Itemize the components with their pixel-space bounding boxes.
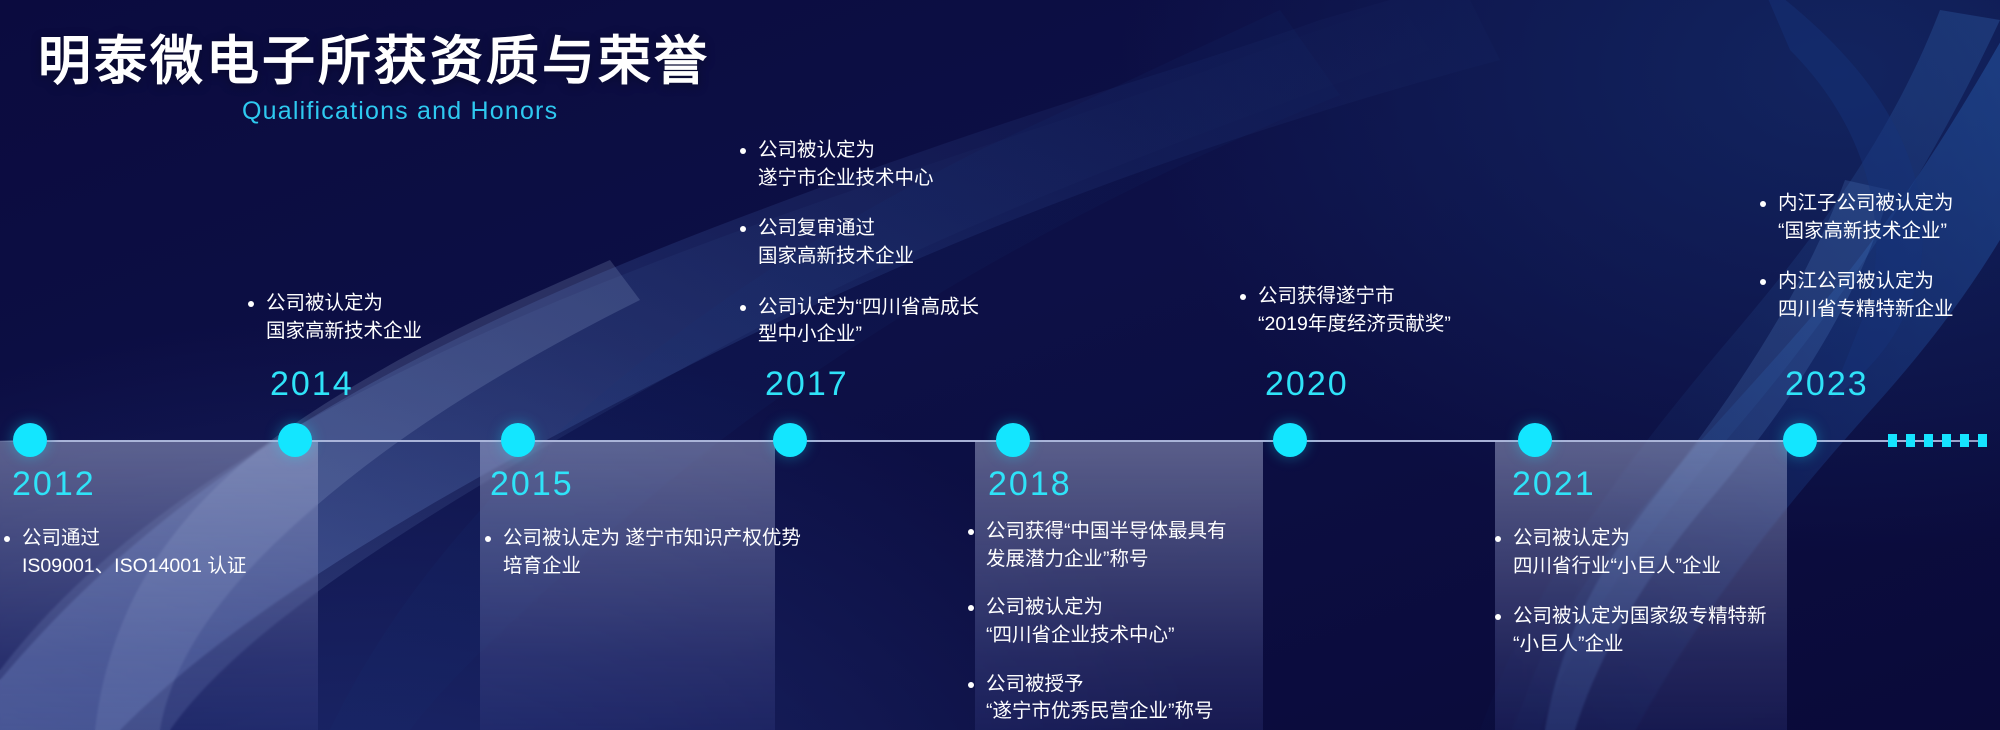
bullet-text: 内江子公司被认定为 “国家高新技术企业”: [1778, 190, 1954, 245]
bullet-item: 内江子公司被认定为 “国家高新技术企业”: [1760, 190, 1954, 245]
bullet-text: 公司被认定为 遂宁市知识产权优势培育企业: [503, 525, 815, 580]
year-label-2023: 2023: [1785, 365, 1869, 404]
bullet-text: 公司复审通过 国家高新技术企业: [758, 215, 914, 270]
bullet-dot-icon: [1760, 279, 1766, 285]
bullet-text: 公司获得“中国半导体最具有 发展潜力企业”称号: [986, 518, 1227, 573]
year-label-2014: 2014: [270, 365, 354, 404]
bullet-dot-icon: [968, 529, 974, 535]
bullet-text: 公司通过 IS09001、ISO14001 认证: [22, 525, 246, 580]
slide-canvas: 明泰微电子所获资质与荣誉 Qualifications and Honors 2…: [0, 0, 2000, 730]
bullet-dot-icon: [485, 536, 491, 542]
bullet-group-2015: 公司被认定为 遂宁市知识产权优势培育企业: [485, 525, 815, 580]
bullet-dot-icon: [4, 536, 10, 542]
axis-dash: [1888, 434, 1897, 447]
bullet-group-2020: 公司获得遂宁市 “2019年度经济贡献奖”: [1240, 283, 1451, 338]
timeline-node-dot-2020[interactable]: [1273, 423, 1307, 457]
bullet-item: 公司获得“中国半导体最具有 发展潜力企业”称号: [968, 518, 1227, 573]
timeline-node-dot-2018[interactable]: [996, 423, 1030, 457]
bullet-group-2017: 公司被认定为 遂宁市企业技术中心 公司复审通过 国家高新技术企业 公司认定为“四…: [740, 137, 979, 349]
bullet-item: 公司被认定为 遂宁市知识产权优势培育企业: [485, 525, 815, 580]
axis-dash: [1906, 434, 1915, 447]
bullet-item: 公司被授予 “遂宁市优秀民营企业”称号: [968, 671, 1227, 726]
bullet-text: 公司被认定为 “四川省企业技术中心”: [986, 594, 1175, 649]
axis-dash: [1960, 434, 1969, 447]
axis-dash: [1924, 434, 1933, 447]
bullet-group-2021: 公司被认定为 四川省行业“小巨人”企业 公司被认定为国家级专精特新 “小巨人”企…: [1495, 525, 1767, 659]
bullet-dot-icon: [740, 305, 746, 311]
bullet-item: 公司被认定为国家级专精特新 “小巨人”企业: [1495, 603, 1767, 658]
bullet-group-2023: 内江子公司被认定为 “国家高新技术企业” 内江公司被认定为 四川省专精特新企业: [1760, 190, 1954, 324]
bullet-text: 公司被认定为 遂宁市企业技术中心: [758, 137, 934, 192]
timeline-axis-end-dashes: [1888, 434, 1987, 447]
bullet-dot-icon: [968, 605, 974, 611]
year-label-2020: 2020: [1265, 365, 1349, 404]
timeline-node-dot-2021[interactable]: [1518, 423, 1552, 457]
bullet-dot-icon: [968, 682, 974, 688]
timeline-node-dot-2015[interactable]: [501, 423, 535, 457]
bullet-group-2012: 公司通过 IS09001、ISO14001 认证: [4, 525, 246, 580]
bullet-group-2014: 公司被认定为 国家高新技术企业: [248, 290, 422, 345]
timeline-node-dot-2017[interactable]: [773, 423, 807, 457]
bullet-item: 公司认定为“四川省高成长 型中小企业”: [740, 294, 979, 349]
bullet-dot-icon: [248, 301, 254, 307]
year-label-2015: 2015: [490, 465, 574, 504]
bullet-text: 公司被认定为国家级专精特新 “小巨人”企业: [1513, 603, 1767, 658]
year-label-2018: 2018: [988, 465, 1072, 504]
bullet-text: 公司获得遂宁市 “2019年度经济贡献奖”: [1258, 283, 1451, 338]
bullet-item: 公司被认定为 四川省行业“小巨人”企业: [1495, 525, 1767, 580]
year-label-2021: 2021: [1512, 465, 1596, 504]
timeline-node-dot-2012[interactable]: [13, 423, 47, 457]
bullet-dot-icon: [1495, 614, 1501, 620]
bullet-item: 公司获得遂宁市 “2019年度经济贡献奖”: [1240, 283, 1451, 338]
axis-dash: [1942, 434, 1951, 447]
bullet-item: 公司被认定为 遂宁市企业技术中心: [740, 137, 979, 192]
page-subtitle: Qualifications and Honors: [242, 97, 710, 126]
bullet-dot-icon: [740, 226, 746, 232]
page-title: 明泰微电子所获资质与荣誉: [38, 32, 710, 91]
title-block: 明泰微电子所获资质与荣誉 Qualifications and Honors: [38, 32, 710, 126]
bullet-item: 内江公司被认定为 四川省专精特新企业: [1760, 268, 1954, 323]
bullet-text: 内江公司被认定为 四川省专精特新企业: [1778, 268, 1954, 323]
bullet-item: 公司通过 IS09001、ISO14001 认证: [4, 525, 246, 580]
timeline-node-dot-2023[interactable]: [1783, 423, 1817, 457]
timeline-node-dot-2014[interactable]: [278, 423, 312, 457]
bullet-dot-icon: [1240, 294, 1246, 300]
bullet-dot-icon: [740, 148, 746, 154]
bullet-item: 公司被认定为 “四川省企业技术中心”: [968, 594, 1227, 649]
year-label-2017: 2017: [765, 365, 849, 404]
bullet-text: 公司认定为“四川省高成长 型中小企业”: [758, 294, 979, 349]
bullet-item: 公司被认定为 国家高新技术企业: [248, 290, 422, 345]
bullet-item: 公司复审通过 国家高新技术企业: [740, 215, 979, 270]
bullet-text: 公司被认定为 四川省行业“小巨人”企业: [1513, 525, 1721, 580]
bullet-dot-icon: [1760, 201, 1766, 207]
bullet-text: 公司被授予 “遂宁市优秀民营企业”称号: [986, 671, 1214, 726]
bullet-text: 公司被认定为 国家高新技术企业: [266, 290, 422, 345]
bullet-group-2018: 公司获得“中国半导体最具有 发展潜力企业”称号 公司被认定为 “四川省企业技术中…: [968, 518, 1227, 730]
year-label-2012: 2012: [12, 465, 96, 504]
axis-dash: [1978, 434, 1987, 447]
bullet-dot-icon: [1495, 536, 1501, 542]
